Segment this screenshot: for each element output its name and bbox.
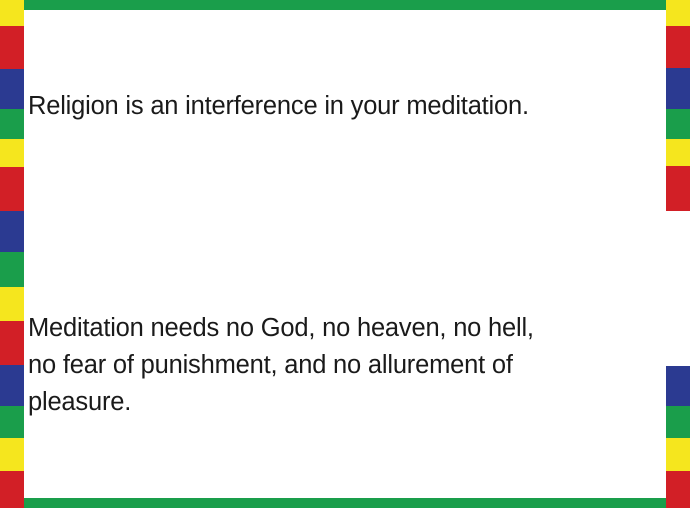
quote-text-area: Religion is an interference in your medi… xyxy=(24,10,666,498)
left-border-column xyxy=(0,0,24,508)
border-segment xyxy=(0,109,24,139)
border-segment xyxy=(0,365,24,406)
border-segment xyxy=(666,471,690,508)
border-segment xyxy=(666,211,690,366)
quote-paragraph-1: Religion is an interference in your medi… xyxy=(28,88,666,125)
right-border-column xyxy=(666,0,690,508)
border-segment xyxy=(666,139,690,167)
top-border-strip xyxy=(0,0,690,10)
border-segment xyxy=(0,438,24,471)
border-segment xyxy=(0,321,24,366)
border-segment xyxy=(666,366,690,407)
border-segment xyxy=(666,166,690,210)
border-segment xyxy=(666,406,690,437)
border-segment xyxy=(0,0,24,26)
border-segment xyxy=(0,139,24,167)
border-segment xyxy=(0,406,24,438)
quote-card: Religion is an interference in your medi… xyxy=(0,0,690,508)
border-segment xyxy=(0,69,24,110)
border-segment xyxy=(0,167,24,212)
border-segment xyxy=(666,109,690,139)
border-segment xyxy=(0,287,24,320)
border-segment xyxy=(0,211,24,252)
border-segment xyxy=(666,0,690,26)
paragraph-spacer-1 xyxy=(28,199,666,236)
paragraph-spacer-2 xyxy=(28,495,666,508)
border-segment xyxy=(0,471,24,508)
border-segment xyxy=(666,26,690,68)
border-segment xyxy=(0,252,24,287)
border-segment xyxy=(666,438,690,471)
border-segment xyxy=(0,26,24,69)
border-segment xyxy=(666,68,690,109)
quote-block: Religion is an interference in your medi… xyxy=(28,14,666,508)
quote-paragraph-2: Meditation needs no God, no heaven, no h… xyxy=(28,310,666,421)
